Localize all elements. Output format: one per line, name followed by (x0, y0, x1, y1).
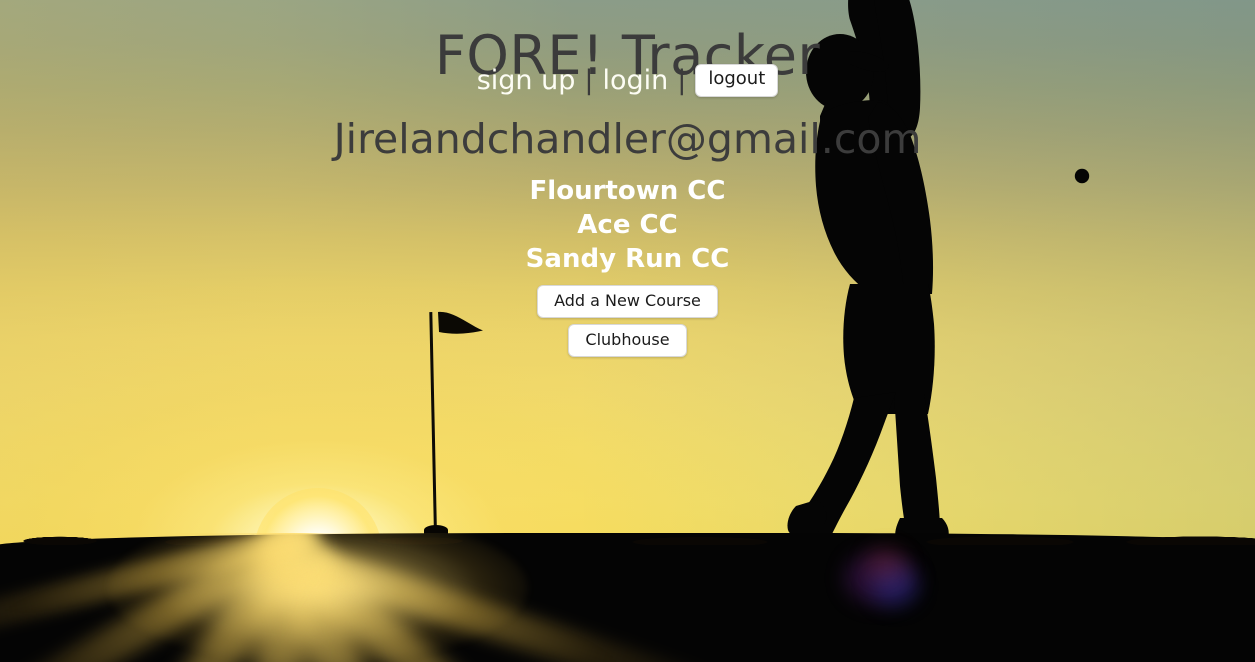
clubhouse-button[interactable]: Clubhouse (568, 324, 686, 357)
user-email: Jirelandchandler@gmail.com (0, 117, 1255, 162)
app-root: FORE! Tracker sign up | login | logout J… (0, 0, 1255, 662)
add-new-course-button[interactable]: Add a New Course (537, 285, 718, 318)
login-link[interactable]: login (602, 67, 668, 94)
sign-up-link[interactable]: sign up (477, 67, 576, 94)
course-list-item[interactable]: Ace CC (0, 208, 1255, 242)
course-list-item[interactable]: Sandy Run CC (0, 242, 1255, 276)
action-buttons: Add a New Course Clubhouse (0, 285, 1255, 357)
logout-button[interactable]: logout (695, 64, 778, 97)
nav-separator: | (677, 67, 686, 94)
course-list: Flourtown CC Ace CC Sandy Run CC (0, 174, 1255, 276)
auth-nav: sign up | login | logout (0, 64, 1255, 97)
nav-separator: | (584, 67, 593, 94)
page-content: FORE! Tracker sign up | login | logout J… (0, 0, 1255, 662)
course-list-item[interactable]: Flourtown CC (0, 174, 1255, 208)
